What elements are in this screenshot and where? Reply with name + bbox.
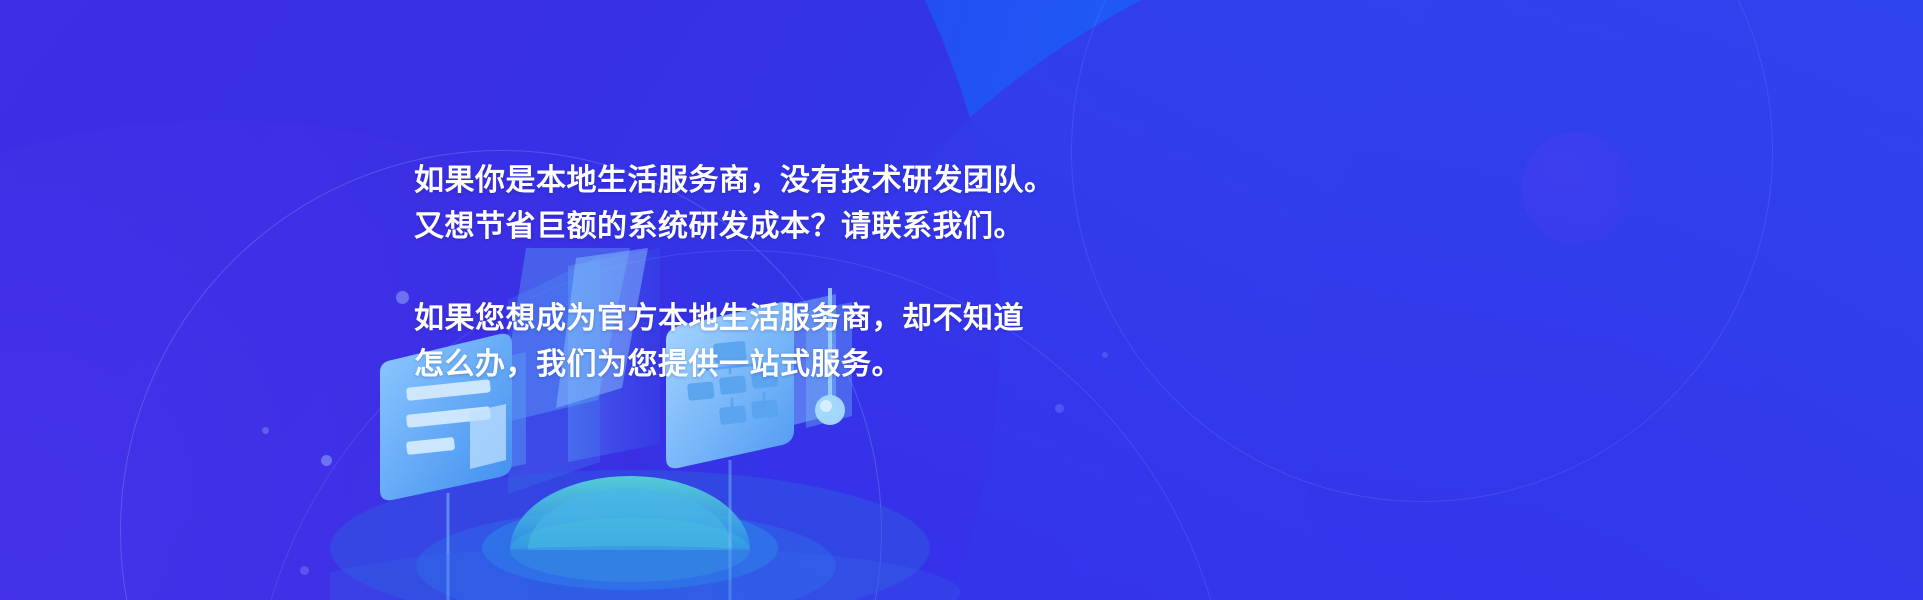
paragraph-2: 如果您想成为官方本地生活服务商，却不知道 怎么办，我们为您提供一站式服务。 bbox=[414, 296, 1055, 388]
paragraph-2-line-2: 怎么办，我们为您提供一站式服务。 bbox=[414, 342, 1055, 388]
background-glow-right bbox=[1303, 0, 1923, 600]
paragraph-1-line-2: 又想节省巨额的系统研发成本？请联系我们。 bbox=[414, 204, 1055, 250]
headline-copy: 如果你是本地生活服务商，没有技术研发团队。 又想节省巨额的系统研发成本？请联系我… bbox=[414, 158, 1055, 388]
background-dot bbox=[1055, 404, 1064, 413]
background-dot bbox=[262, 427, 269, 434]
background-dot bbox=[396, 291, 409, 304]
paragraph-2-line-1: 如果您想成为官方本地生活服务商，却不知道 bbox=[414, 296, 1055, 342]
background-dot bbox=[300, 566, 309, 575]
data-pedestal-icon bbox=[482, 476, 778, 590]
paragraph-1-line-1: 如果你是本地生活服务商，没有技术研发团队。 bbox=[414, 158, 1055, 204]
paragraph-1: 如果你是本地生活服务商，没有技术研发团队。 又想节省巨额的系统研发成本？请联系我… bbox=[414, 158, 1055, 250]
background-dot bbox=[321, 455, 332, 466]
background-arc-right bbox=[1071, 0, 1773, 502]
background-circle-right bbox=[1521, 132, 1633, 244]
promo-banner: 如果你是本地生活服务商，没有技术研发团队。 又想节省巨额的系统研发成本？请联系我… bbox=[0, 0, 1923, 600]
background-dot bbox=[1102, 352, 1108, 358]
